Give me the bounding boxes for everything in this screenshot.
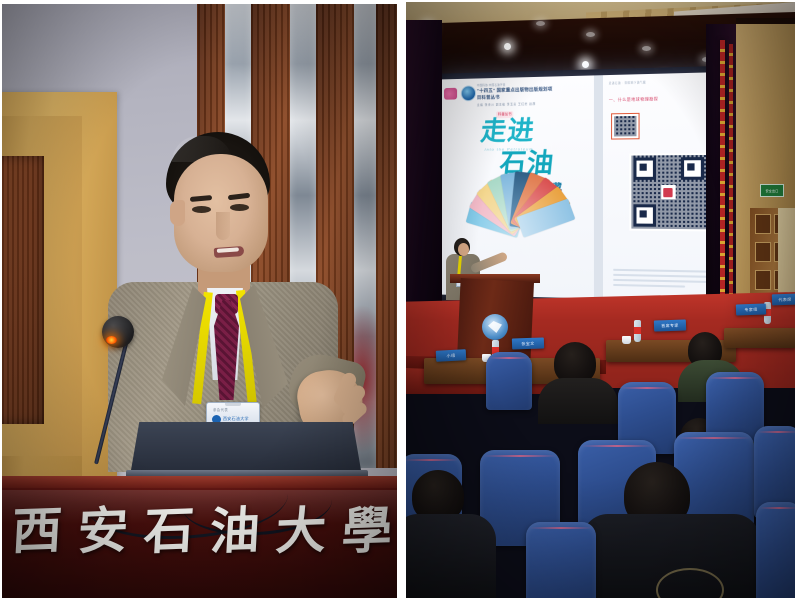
exit-sign-label: 安全出口 [766, 189, 779, 193]
ceiling-spotlight [504, 43, 511, 50]
qr-finder-tl [633, 157, 656, 179]
door-dark-panel [2, 156, 44, 424]
right-photo-panel: 中国科协 中国石油学会 "十四五" 国家重点出版物出版规划项目科普丛书 主编 张… [406, 2, 795, 598]
podium-university-name: 西 安 石 油 大 學 [6, 496, 397, 566]
desk-nameplate: 张宝文 [512, 337, 544, 349]
hanging-banner-secondary [729, 44, 733, 300]
photo-composite: 参会代表 西安石油大学 西 安 石 油 大 學 [0, 0, 800, 600]
hanging-banner [720, 40, 725, 300]
audience-shoulders [406, 514, 496, 598]
badge-top-label: 参会代表 [213, 407, 228, 412]
nameplate-label: 代表席 [778, 296, 791, 302]
qr-large-icon [631, 155, 706, 229]
ceiling-spotlight-dim [586, 32, 595, 37]
qr-small-icon [614, 116, 636, 137]
nameplate-label: 专家组 [744, 306, 757, 312]
desk-nameplate: 小组 [436, 349, 467, 362]
door-panel [755, 242, 771, 262]
nameplate-label: 张宝文 [521, 340, 534, 346]
water-bottle [634, 320, 641, 342]
text-line [613, 274, 718, 278]
ceiling-spotlight [582, 61, 589, 68]
slide-title-line1: 走进 [479, 118, 555, 144]
publisher-logo-icon [444, 88, 457, 100]
podium-char: 大 [275, 505, 328, 557]
microphone-led-indicator [106, 336, 117, 344]
front-desk [724, 328, 795, 348]
stage-speaker-face [458, 243, 469, 256]
slide-title-block: 走进 Into the Petroleum 石油 [481, 118, 554, 176]
badge-clip [225, 402, 241, 406]
university-emblem-icon [482, 314, 508, 340]
qr-finder-bl [633, 204, 656, 227]
nameplate-label: 小组 [446, 352, 455, 358]
qr-large-box [629, 153, 708, 231]
desk-nameplate: 首席专家 [654, 319, 686, 331]
nameplate-label: 首席专家 [661, 322, 679, 329]
stage-curtain-left [406, 20, 442, 320]
audience-shoulders [538, 378, 618, 424]
auditorium-seat [526, 522, 596, 598]
qr-page-section-title: 一、什么是地球物理勘探 [609, 96, 658, 103]
slide-page-qr: 走进石油 · 洞察地下油气藏 一、什么是地球物理勘探 [603, 72, 716, 302]
qr-center-mark [664, 188, 673, 197]
desk-nameplate: 专家组 [736, 303, 766, 315]
qr-center-logo [661, 185, 676, 199]
desk-nameplate: 代表席 [772, 294, 795, 306]
qr-small-box [611, 113, 639, 140]
podium-char: 西 [11, 505, 64, 557]
slide-header-block: 中国科协 中国石油学会 "十四五" 国家重点出版物出版规划项目科普丛书 主编 张… [477, 82, 556, 107]
qr-page-header: 走进石油 · 洞察地下油气藏 [609, 80, 646, 85]
qr-finder-tr [681, 157, 704, 180]
speaker-nose [216, 212, 230, 240]
speaker-eye-left [192, 206, 211, 213]
podium-char: 學 [341, 505, 394, 557]
slide-logos [444, 85, 476, 101]
auditorium-seat [756, 502, 795, 598]
speaker-ear [170, 200, 185, 226]
ceiling-spotlight-dim [536, 21, 545, 26]
auditorium-seat [486, 352, 532, 410]
slide-header-sub: 主编 张金川 副主编 李玉喜 王红岩 赵群 [477, 102, 556, 108]
paper-cup [622, 336, 631, 344]
microphone-icon [102, 316, 134, 348]
door-panel [755, 270, 771, 290]
slide-page-divider [594, 75, 602, 299]
ceiling-spotlight-dim [642, 46, 651, 51]
podium-char: 石 [143, 505, 196, 557]
exit-sign: 安全出口 [760, 184, 784, 197]
podium-char: 安 [77, 505, 130, 557]
society-logo-icon [461, 85, 476, 101]
speaker-eye-right [230, 204, 249, 211]
wood-slat [376, 4, 397, 468]
slide-header-main: "十四五" 国家重点出版物出版规划项目科普丛书 [477, 86, 556, 101]
podium-char: 油 [209, 505, 262, 557]
badge-label: 西安石油大学 [223, 416, 249, 422]
left-photo-panel: 参会代表 西安石油大学 西 安 石 油 大 學 [2, 4, 397, 598]
door-panel [755, 214, 771, 234]
text-line [613, 284, 685, 288]
